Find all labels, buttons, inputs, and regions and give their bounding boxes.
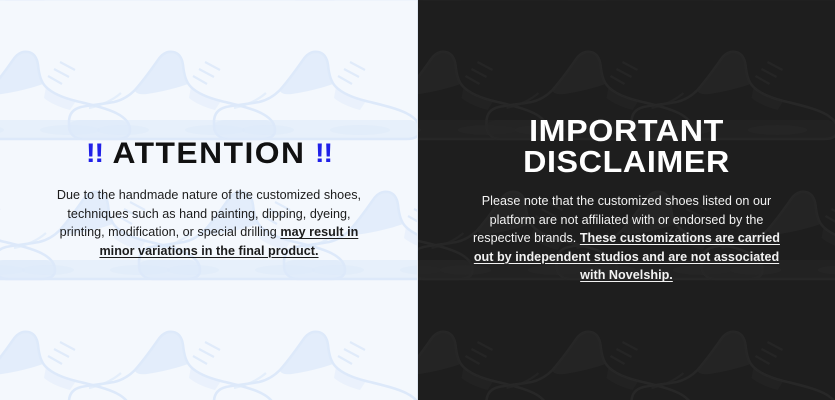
disclaimer-panel: IMPORTANT DISCLAIMER Please note that th… (418, 0, 835, 400)
disclaimer-heading: IMPORTANT DISCLAIMER (441, 115, 812, 177)
panel-divider (417, 0, 418, 400)
disclaimer-body: Please note that the customized shoes li… (462, 192, 792, 285)
double-exclamation-right-icon: !! (315, 140, 332, 168)
attention-heading-text: ATTENTION (113, 137, 306, 170)
double-exclamation-left-icon: !! (86, 140, 103, 168)
disclaimer-banner: !!ATTENTION!! Due to the handmade nature… (0, 0, 835, 400)
disclaimer-heading-line-2: DISCLAIMER (441, 146, 812, 177)
disclaimer-content: IMPORTANT DISCLAIMER Please note that th… (418, 115, 835, 285)
attention-body: Due to the handmade nature of the custom… (51, 186, 367, 261)
attention-panel: !!ATTENTION!! Due to the handmade nature… (0, 0, 418, 400)
disclaimer-heading-line-1: IMPORTANT (441, 115, 812, 146)
attention-heading: !!ATTENTION!! (19, 139, 398, 170)
attention-content: !!ATTENTION!! Due to the handmade nature… (0, 139, 418, 260)
